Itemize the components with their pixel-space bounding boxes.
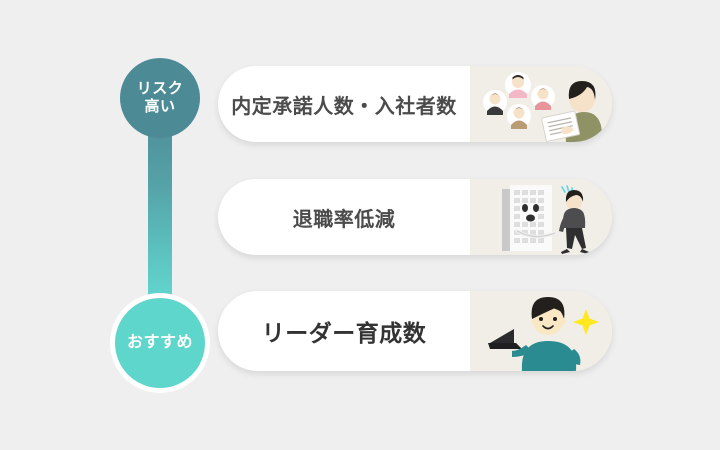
- metric-card-leader-development[interactable]: リーダー育成数: [218, 291, 612, 371]
- employee-leaving-building-illustration: [470, 179, 612, 255]
- recommended-badge-label: おすすめ: [127, 333, 193, 353]
- risk-badge-line2: 高い: [144, 98, 175, 116]
- risk-badge-line1: リスク: [137, 80, 184, 98]
- metric-card-label: リーダー育成数: [218, 314, 470, 348]
- leader-with-laptop-illustration: [470, 291, 612, 371]
- recommended-badge: おすすめ: [110, 293, 210, 393]
- risk-high-badge: リスク 高い: [120, 58, 200, 138]
- risk-recommendation-rail: リスク 高い おすすめ: [110, 58, 210, 383]
- metric-card-offer-acceptance[interactable]: 内定承諾人数・入社者数: [218, 66, 612, 142]
- interview-candidates-illustration: [470, 66, 612, 142]
- infographic-canvas: リスク 高い おすすめ 内定承諾人数・入社者数: [0, 0, 720, 450]
- metric-card-turnover-reduction[interactable]: 退職率低減: [218, 179, 612, 255]
- metric-card-label: 内定承諾人数・入社者数: [218, 90, 470, 119]
- gradient-arrow-shaft: [148, 118, 172, 316]
- metric-card-label: 退職率低減: [218, 203, 470, 232]
